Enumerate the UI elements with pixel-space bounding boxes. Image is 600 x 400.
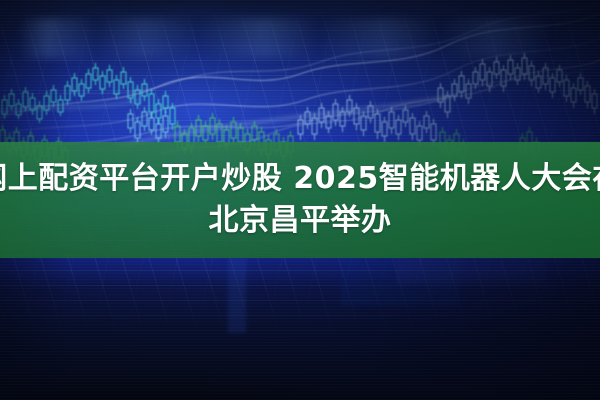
headline-band: 网上配资平台开户炒股 2025智能机器人大会在 北京昌平举办: [0, 142, 600, 258]
headline-line-1: 网上配资平台开户炒股 2025智能机器人大会在: [0, 158, 600, 200]
headline-line-2: 北京昌平举办: [209, 200, 392, 242]
news-banner: 网上配资平台开户炒股 2025智能机器人大会在 北京昌平举办: [0, 0, 600, 400]
background-light-streaks: [0, 18, 600, 58]
